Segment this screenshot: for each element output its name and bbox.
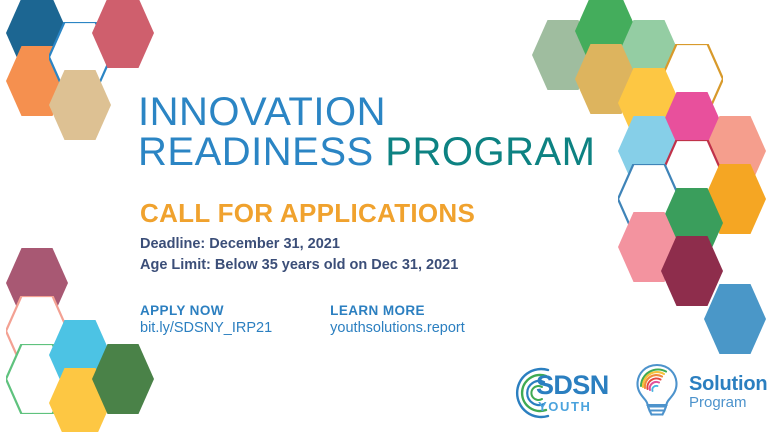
solutions-program-logo: Solutions Program bbox=[632, 362, 768, 423]
cta-learn-more[interactable]: LEARN MORE youthsolutions.report bbox=[330, 303, 465, 336]
subheadline-call-for-applications: CALL FOR APPLICATIONS bbox=[140, 198, 475, 229]
headline-line-2: READINESS PROGRAM bbox=[138, 132, 595, 172]
poster-canvas: INNOVATION READINESS PROGRAM CALL FOR AP… bbox=[0, 0, 768, 432]
details-block: Deadline: December 31, 2021 Age Limit: B… bbox=[140, 234, 458, 275]
solutions-wordmark: Solutions Program bbox=[689, 374, 768, 411]
sdsn-main-text: SDSN bbox=[536, 372, 609, 399]
lightbulb-icon bbox=[632, 362, 682, 423]
solutions-sub-text: Program bbox=[689, 395, 768, 411]
logo-row: SDSN YOUTH bbox=[508, 362, 768, 423]
hex-darkgreen bbox=[92, 344, 154, 414]
hex-steelblue bbox=[704, 284, 766, 354]
cta-learn-more-link[interactable]: youthsolutions.report bbox=[330, 320, 465, 336]
sdsn-youth-logo: SDSN YOUTH bbox=[508, 364, 618, 422]
detail-deadline: Deadline: December 31, 2021 bbox=[140, 234, 458, 255]
page-title: INNOVATION READINESS PROGRAM bbox=[138, 92, 595, 172]
hex-rose bbox=[92, 0, 154, 68]
cta-apply-now-title: APPLY NOW bbox=[140, 303, 272, 318]
hex-tan bbox=[49, 70, 111, 140]
sdsn-sub-text: YOUTH bbox=[538, 400, 609, 413]
solutions-main-text: Solutions bbox=[689, 374, 768, 395]
cta-apply-now-link[interactable]: bit.ly/SDSNY_IRP21 bbox=[140, 320, 272, 336]
headline-readiness: READINESS bbox=[138, 130, 385, 174]
cta-apply-now[interactable]: APPLY NOW bit.ly/SDSNY_IRP21 bbox=[140, 303, 272, 336]
headline-line-1: INNOVATION bbox=[138, 92, 595, 132]
sdsn-wordmark: SDSN YOUTH bbox=[536, 372, 609, 413]
detail-age-limit: Age Limit: Below 35 years old on Dec 31,… bbox=[140, 255, 458, 276]
headline-program: PROGRAM bbox=[385, 130, 595, 174]
cta-learn-more-title: LEARN MORE bbox=[330, 303, 465, 318]
cta-row: APPLY NOW bit.ly/SDSNY_IRP21 LEARN MORE … bbox=[140, 303, 465, 336]
